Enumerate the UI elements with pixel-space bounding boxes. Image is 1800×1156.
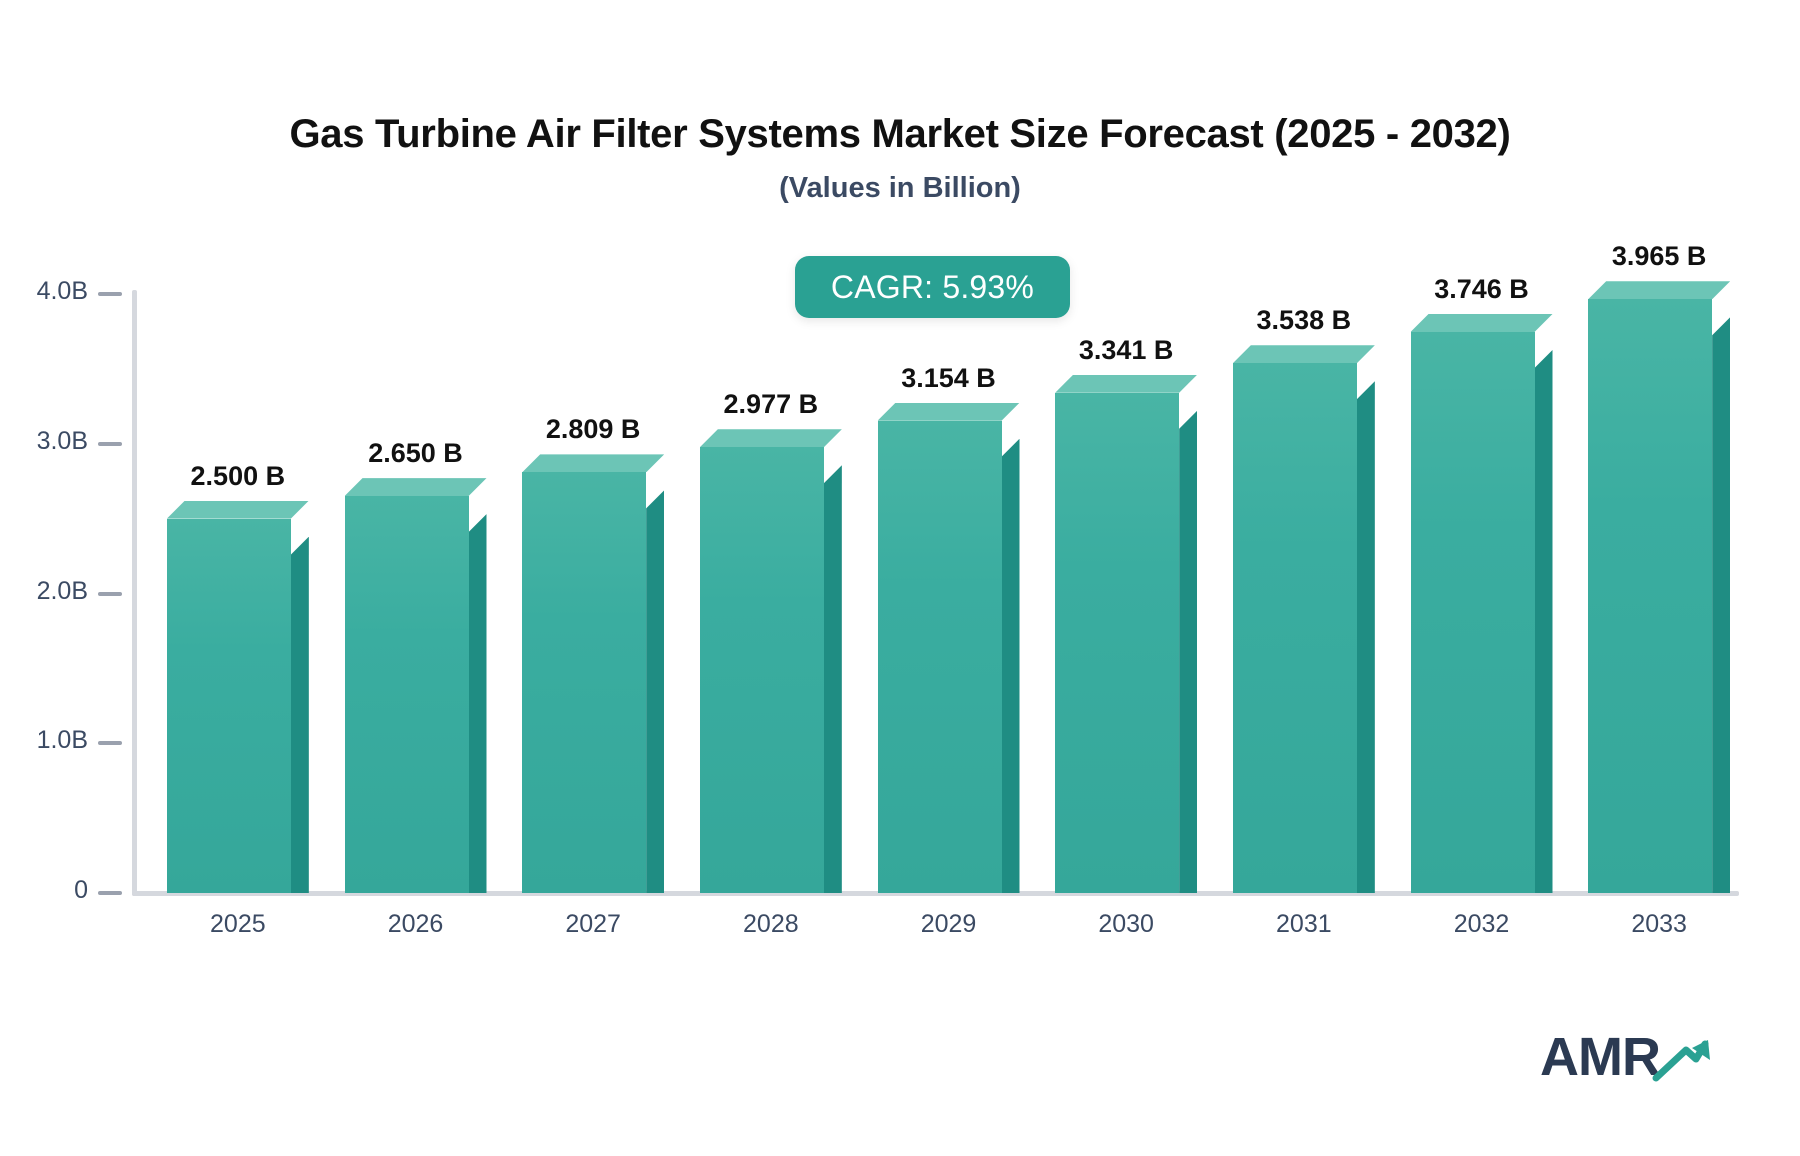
x-tick-label: 2026: [388, 910, 444, 939]
x-tick-label: 2030: [1098, 910, 1154, 939]
bar-value-label: 3.538 B: [1257, 305, 1352, 336]
bar-top-face: [700, 429, 842, 447]
x-tick-label: 2027: [565, 910, 621, 939]
bar-top-face: [1411, 314, 1553, 332]
bar-front-face: [522, 472, 646, 893]
x-tick-label: 2033: [1631, 910, 1687, 939]
plot-area: 01.0B2.0B3.0B4.0B 2025202620272028202920…: [0, 0, 1800, 1156]
bar-value-label: 2.500 B: [191, 461, 286, 492]
amr-logo-text: AMR: [1540, 1030, 1660, 1084]
x-tick-label: 2031: [1276, 910, 1332, 939]
bar: [1233, 0, 1375, 893]
bar-side-face: [469, 514, 487, 893]
bar: [1588, 0, 1730, 893]
bar-value-label: 2.809 B: [546, 414, 641, 445]
y-tick-label: 4.0B: [37, 277, 88, 306]
y-tick-mark: [98, 442, 122, 446]
bar: [522, 0, 664, 893]
bar: [167, 0, 309, 893]
bar-front-face: [1233, 363, 1357, 893]
bar-top-face: [345, 478, 487, 496]
bar-front-face: [1588, 299, 1712, 893]
bar-value-label: 2.977 B: [724, 389, 819, 420]
bar-value-label: 3.341 B: [1079, 335, 1174, 366]
bar-front-face: [167, 519, 291, 893]
bar: [1411, 0, 1553, 893]
y-tick-mark: [98, 891, 122, 895]
bar: [878, 0, 1020, 893]
bar: [700, 0, 842, 893]
chart-canvas: Gas Turbine Air Filter Systems Market Si…: [0, 0, 1800, 1156]
bar-value-label: 3.746 B: [1434, 274, 1529, 305]
bar-side-face: [1002, 439, 1020, 893]
y-tick-mark: [98, 741, 122, 745]
bar-value-label: 2.650 B: [368, 438, 463, 469]
bar-side-face: [646, 490, 664, 893]
bar-front-face: [700, 447, 824, 893]
y-tick-label: 0: [74, 876, 88, 905]
x-tick-label: 2025: [210, 910, 266, 939]
x-tick-label: 2028: [743, 910, 799, 939]
bar-top-face: [1233, 345, 1375, 363]
bar-top-face: [878, 403, 1020, 421]
bar-value-label: 3.154 B: [901, 363, 996, 394]
bar-front-face: [878, 421, 1002, 893]
bar-top-face: [1055, 375, 1197, 393]
bar-front-face: [345, 496, 469, 893]
growth-arrow-icon: [1652, 1038, 1712, 1084]
bar-side-face: [291, 537, 309, 893]
amr-logo: AMR: [1540, 1030, 1712, 1084]
bar-side-face: [1357, 381, 1375, 893]
bar: [1055, 0, 1197, 893]
bar-front-face: [1411, 332, 1535, 893]
y-tick-mark: [98, 292, 122, 296]
x-tick-label: 2029: [921, 910, 977, 939]
bar-side-face: [1712, 317, 1730, 893]
bar-side-face: [1179, 411, 1197, 893]
x-tick-label: 2032: [1454, 910, 1510, 939]
bar-top-face: [167, 501, 309, 519]
y-tick-label: 1.0B: [37, 726, 88, 755]
bar-top-face: [1588, 281, 1730, 299]
bar-front-face: [1055, 393, 1179, 893]
y-tick-label: 2.0B: [37, 577, 88, 606]
bar-top-face: [522, 454, 664, 472]
bar-side-face: [1535, 350, 1553, 893]
bar-side-face: [824, 465, 842, 893]
y-axis-line: [132, 290, 137, 896]
bar-value-label: 3.965 B: [1612, 241, 1707, 272]
y-tick-label: 3.0B: [37, 427, 88, 456]
y-tick-mark: [98, 592, 122, 596]
